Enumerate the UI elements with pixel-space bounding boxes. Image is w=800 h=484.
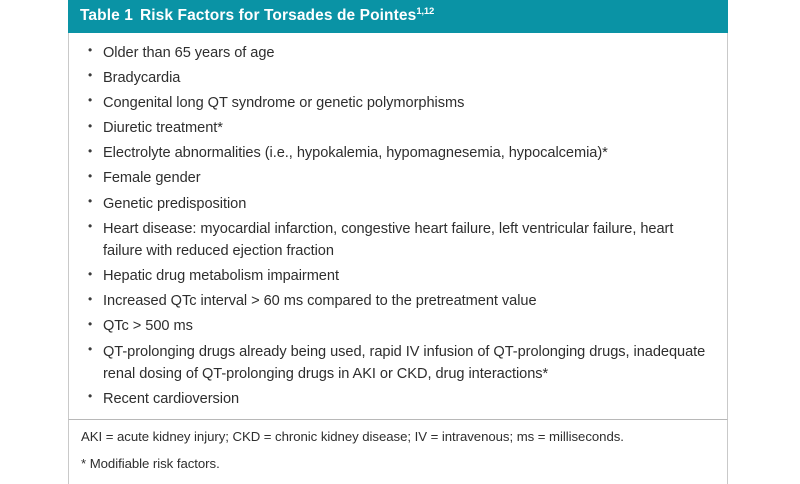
- document-page: Table 1Risk Factors for Torsades de Poin…: [0, 0, 800, 450]
- list-item: QT-prolonging drugs already being used, …: [81, 341, 715, 385]
- list-item: Female gender: [81, 167, 715, 189]
- list-item: Heart disease: myocardial infarction, co…: [81, 218, 715, 262]
- table-body: Older than 65 years of age Bradycardia C…: [68, 33, 728, 420]
- table-title-superscript: 1,12: [416, 6, 434, 17]
- list-item: Electrolyte abnormalities (i.e., hypokal…: [81, 142, 715, 164]
- list-item: Increased QTc interval > 60 ms compared …: [81, 290, 715, 312]
- list-item: Older than 65 years of age: [81, 42, 715, 64]
- list-item: Bradycardia: [81, 67, 715, 89]
- risk-factors-table: Table 1Risk Factors for Torsades de Poin…: [68, 0, 728, 484]
- list-item: Diuretic treatment*: [81, 117, 715, 139]
- list-item: Hepatic drug metabolism impairment: [81, 265, 715, 287]
- table-header: Table 1Risk Factors for Torsades de Poin…: [68, 0, 728, 33]
- table-footnotes: AKI = acute kidney injury; CKD = chronic…: [68, 419, 728, 484]
- footnote-abbreviations: AKI = acute kidney injury; CKD = chronic…: [81, 427, 715, 447]
- table-title: Risk Factors for Torsades de Pointes: [140, 7, 416, 24]
- list-item: Congenital long QT syndrome or genetic p…: [81, 92, 715, 114]
- footnote-modifiable: * Modifiable risk factors.: [81, 454, 715, 474]
- table-number: Table 1: [80, 7, 133, 24]
- list-item: Genetic predisposition: [81, 193, 715, 215]
- risk-factor-list: Older than 65 years of age Bradycardia C…: [81, 42, 715, 411]
- list-item: QTc > 500 ms: [81, 315, 715, 337]
- list-item: Recent cardioversion: [81, 388, 715, 410]
